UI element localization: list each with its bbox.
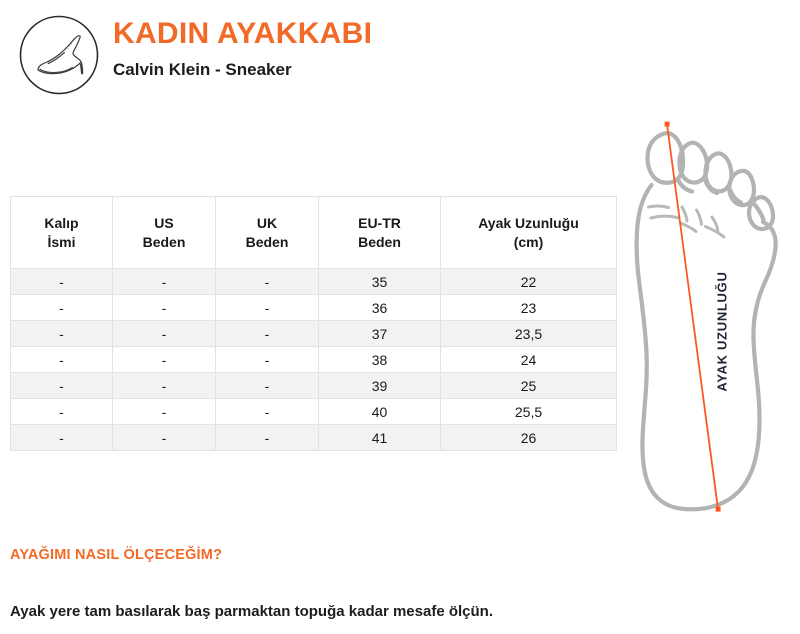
table-header-row: Kalıp İsmi US Beden UK Beden EU-TR Beden… bbox=[11, 197, 617, 269]
cell-uk-beden: - bbox=[216, 321, 319, 347]
cell-us-beden: - bbox=[113, 425, 216, 451]
column-header-us-beden: US Beden bbox=[113, 197, 216, 269]
table-header: Kalıp İsmi US Beden UK Beden EU-TR Beden… bbox=[11, 197, 617, 269]
size-chart-table: Kalıp İsmi US Beden UK Beden EU-TR Beden… bbox=[10, 196, 617, 451]
high-heel-shoe-icon bbox=[18, 14, 100, 96]
cell-eu-tr-beden: 35 bbox=[319, 269, 441, 295]
table-body: - - - 35 22 - - - 36 23 - - - 37 23,5 bbox=[11, 269, 617, 451]
page-title: KADIN AYAKKABI bbox=[113, 16, 372, 52]
cell-kalip-ismi: - bbox=[11, 399, 113, 425]
header-line-2: İsmi bbox=[15, 233, 108, 252]
cell-kalip-ismi: - bbox=[11, 347, 113, 373]
table-row: - - - 37 23,5 bbox=[11, 321, 617, 347]
header-line-1: EU-TR bbox=[323, 214, 436, 233]
table-row: - - - 40 25,5 bbox=[11, 399, 617, 425]
page-header: KADIN AYAKKABI Calvin Klein - Sneaker bbox=[0, 0, 800, 110]
measurement-instructions: AYAĞIMI NASIL ÖLÇECEĞİM? Ayak yere tam b… bbox=[10, 545, 710, 623]
cell-ayak-uzunlugu: 22 bbox=[441, 269, 617, 295]
cell-kalip-ismi: - bbox=[11, 295, 113, 321]
cell-us-beden: - bbox=[113, 347, 216, 373]
column-header-eu-tr-beden: EU-TR Beden bbox=[319, 197, 441, 269]
cell-eu-tr-beden: 36 bbox=[319, 295, 441, 321]
header-line-2: Beden bbox=[220, 233, 314, 252]
column-header-ayak-uzunlugu: Ayak Uzunluğu (cm) bbox=[441, 197, 617, 269]
foot-sole-diagram bbox=[620, 110, 800, 530]
cell-eu-tr-beden: 41 bbox=[319, 425, 441, 451]
cell-eu-tr-beden: 38 bbox=[319, 347, 441, 373]
column-header-kalip-ismi: Kalıp İsmi bbox=[11, 197, 113, 269]
header-line-2: Beden bbox=[323, 233, 436, 252]
cell-us-beden: - bbox=[113, 399, 216, 425]
header-line-1: US bbox=[117, 214, 211, 233]
page-subtitle: Calvin Klein - Sneaker bbox=[113, 58, 372, 82]
header-line-1: UK bbox=[220, 214, 314, 233]
cell-kalip-ismi: - bbox=[11, 425, 113, 451]
cell-kalip-ismi: - bbox=[11, 269, 113, 295]
table-row: - - - 35 22 bbox=[11, 269, 617, 295]
cell-us-beden: - bbox=[113, 373, 216, 399]
header-line-1: Kalıp bbox=[15, 214, 108, 233]
cell-uk-beden: - bbox=[216, 399, 319, 425]
cell-eu-tr-beden: 39 bbox=[319, 373, 441, 399]
header-line-2: (cm) bbox=[445, 233, 612, 252]
cell-uk-beden: - bbox=[216, 347, 319, 373]
measure-endpoint-toe bbox=[665, 122, 670, 127]
cell-uk-beden: - bbox=[216, 425, 319, 451]
cell-us-beden: - bbox=[113, 321, 216, 347]
cell-ayak-uzunlugu: 26 bbox=[441, 425, 617, 451]
cell-uk-beden: - bbox=[216, 295, 319, 321]
cell-ayak-uzunlugu: 24 bbox=[441, 347, 617, 373]
cell-kalip-ismi: - bbox=[11, 321, 113, 347]
cell-us-beden: - bbox=[113, 269, 216, 295]
table-row: - - - 36 23 bbox=[11, 295, 617, 321]
cell-eu-tr-beden: 37 bbox=[319, 321, 441, 347]
size-table-container: Kalıp İsmi US Beden UK Beden EU-TR Beden… bbox=[10, 196, 616, 451]
title-block: KADIN AYAKKABI Calvin Klein - Sneaker bbox=[113, 16, 372, 82]
measure-heading: AYAĞIMI NASIL ÖLÇECEĞİM? bbox=[10, 545, 710, 565]
measure-text: Ayak yere tam basılarak baş parmaktan to… bbox=[10, 601, 710, 623]
column-header-uk-beden: UK Beden bbox=[216, 197, 319, 269]
cell-eu-tr-beden: 40 bbox=[319, 399, 441, 425]
table-row: - - - 38 24 bbox=[11, 347, 617, 373]
header-line-1: Ayak Uzunluğu bbox=[445, 214, 612, 233]
cell-ayak-uzunlugu: 23 bbox=[441, 295, 617, 321]
table-row: - - - 41 26 bbox=[11, 425, 617, 451]
header-line-2: Beden bbox=[117, 233, 211, 252]
cell-us-beden: - bbox=[113, 295, 216, 321]
cell-uk-beden: - bbox=[216, 373, 319, 399]
cell-ayak-uzunlugu: 25,5 bbox=[441, 399, 617, 425]
measure-endpoint-heel bbox=[716, 507, 721, 512]
table-row: - - - 39 25 bbox=[11, 373, 617, 399]
cell-ayak-uzunlugu: 23,5 bbox=[441, 321, 617, 347]
cell-ayak-uzunlugu: 25 bbox=[441, 373, 617, 399]
cell-kalip-ismi: - bbox=[11, 373, 113, 399]
cell-uk-beden: - bbox=[216, 269, 319, 295]
